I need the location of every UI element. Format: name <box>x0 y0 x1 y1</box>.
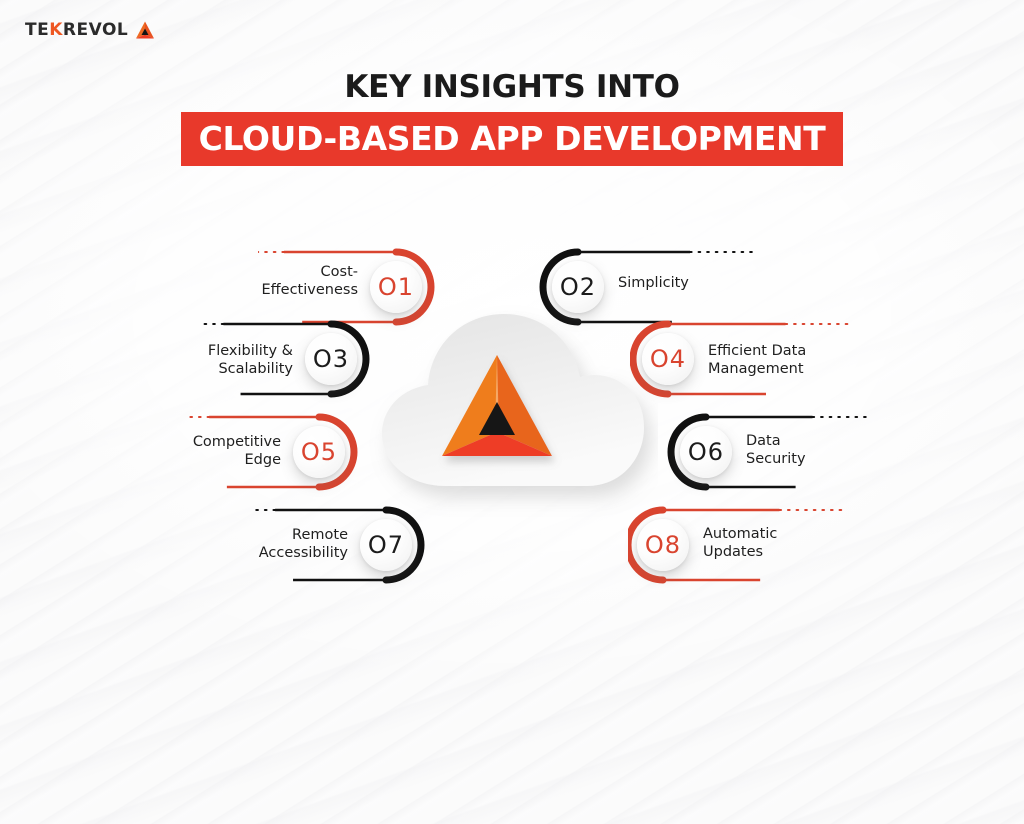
insight-number-badge[interactable]: O1 <box>370 261 422 313</box>
insight-label: Remote Accessibility <box>220 527 348 562</box>
insight-label: Cost- Effectiveness <box>228 264 358 299</box>
insight-label: Automatic Updates <box>703 526 853 561</box>
insight-number: O8 <box>645 533 681 557</box>
insight-item-o7[interactable]: O7Remote Accessibility <box>252 500 482 600</box>
insight-number: O6 <box>688 440 724 464</box>
insight-number-badge[interactable]: O2 <box>552 261 604 313</box>
insight-number: O5 <box>301 440 337 464</box>
insight-label: Competitive Edge <box>155 434 281 469</box>
brand-name-part1: TE <box>25 20 49 40</box>
insight-item-o6[interactable]: O6Data Security <box>664 408 894 508</box>
insight-item-o3[interactable]: O3Flexibility & Scalability <box>202 314 432 414</box>
brand-logo: TEKREVOL <box>25 20 156 40</box>
insight-number: O1 <box>378 275 414 299</box>
insight-item-o5[interactable]: O5Competitive Edge <box>186 408 416 508</box>
insight-label: Simplicity <box>618 275 768 293</box>
insight-number-badge[interactable]: O7 <box>360 519 412 571</box>
insight-number: O2 <box>560 275 596 299</box>
title-line-1: KEY INSIGHTS INTO <box>0 72 1024 103</box>
insight-number: O7 <box>368 533 404 557</box>
insight-number-badge[interactable]: O4 <box>642 333 694 385</box>
page-title: KEY INSIGHTS INTO CLOUD-BASED APP DEVELO… <box>0 72 1024 166</box>
insight-number: O3 <box>313 347 349 371</box>
insight-label: Flexibility & Scalability <box>171 343 293 378</box>
brand-name-part2: REVOL <box>63 20 128 40</box>
brand-name-accent: K <box>49 20 63 40</box>
insight-label: Efficient Data Management <box>708 343 868 378</box>
insight-label: Data Security <box>746 433 886 468</box>
brand-wordmark: TEKREVOL <box>25 20 128 40</box>
insight-number-badge[interactable]: O5 <box>293 426 345 478</box>
title-line-2-highlight: CLOUD-BASED APP DEVELOPMENT <box>181 112 844 166</box>
insight-number-badge[interactable]: O3 <box>305 333 357 385</box>
tekrevol-triangle-logo-icon <box>134 20 156 40</box>
insight-item-o8[interactable]: O8Automatic Updates <box>628 500 858 600</box>
insight-number-badge[interactable]: O6 <box>680 426 732 478</box>
insight-item-o4[interactable]: O4Efficient Data Management <box>630 314 860 414</box>
insight-number-badge[interactable]: O8 <box>637 519 689 571</box>
insight-number: O4 <box>650 347 686 371</box>
